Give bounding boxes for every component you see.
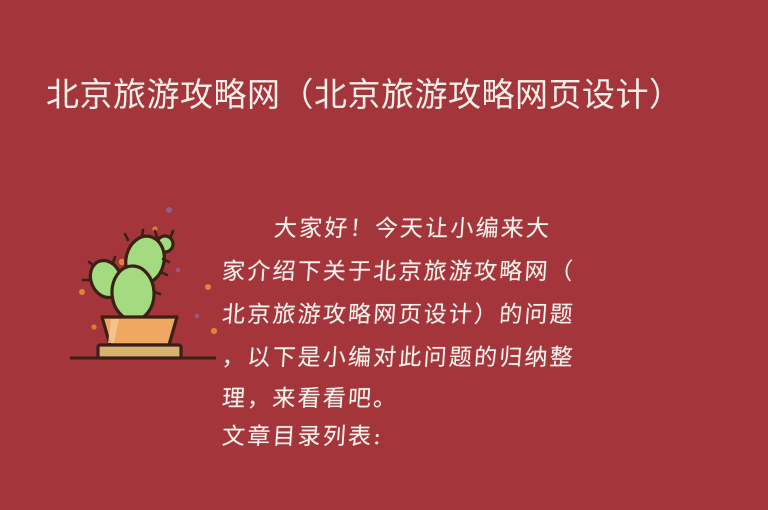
cactus-pad-center <box>111 265 156 321</box>
body-line: 大家好！今天让小编来大 <box>220 208 647 251</box>
body-line: ，以下是小编对此问题的归纳整 <box>220 337 647 380</box>
cactus-svg <box>58 196 228 361</box>
article-body: 大家好！今天让小编来大 家介绍下关于北京旅游攻略网（ 北京旅游攻略网页设计）的问… <box>222 208 646 456</box>
article-page: 北京旅游攻略网（北京旅游攻略网页设计） <box>0 0 768 510</box>
body-line: 北京旅游攻略网页设计）的问题 <box>220 294 647 337</box>
cactus-body <box>85 233 173 321</box>
pot-base <box>98 345 181 358</box>
potted-cactus-illustration <box>58 196 228 361</box>
page-title: 北京旅游攻略网（北京旅游攻略网页设计） <box>46 70 686 120</box>
body-line: 家介绍下关于北京旅游攻略网（ <box>220 251 647 294</box>
body-line: 理，来看看吧。 <box>221 380 648 418</box>
toc-heading: 文章目录列表: <box>221 418 648 456</box>
